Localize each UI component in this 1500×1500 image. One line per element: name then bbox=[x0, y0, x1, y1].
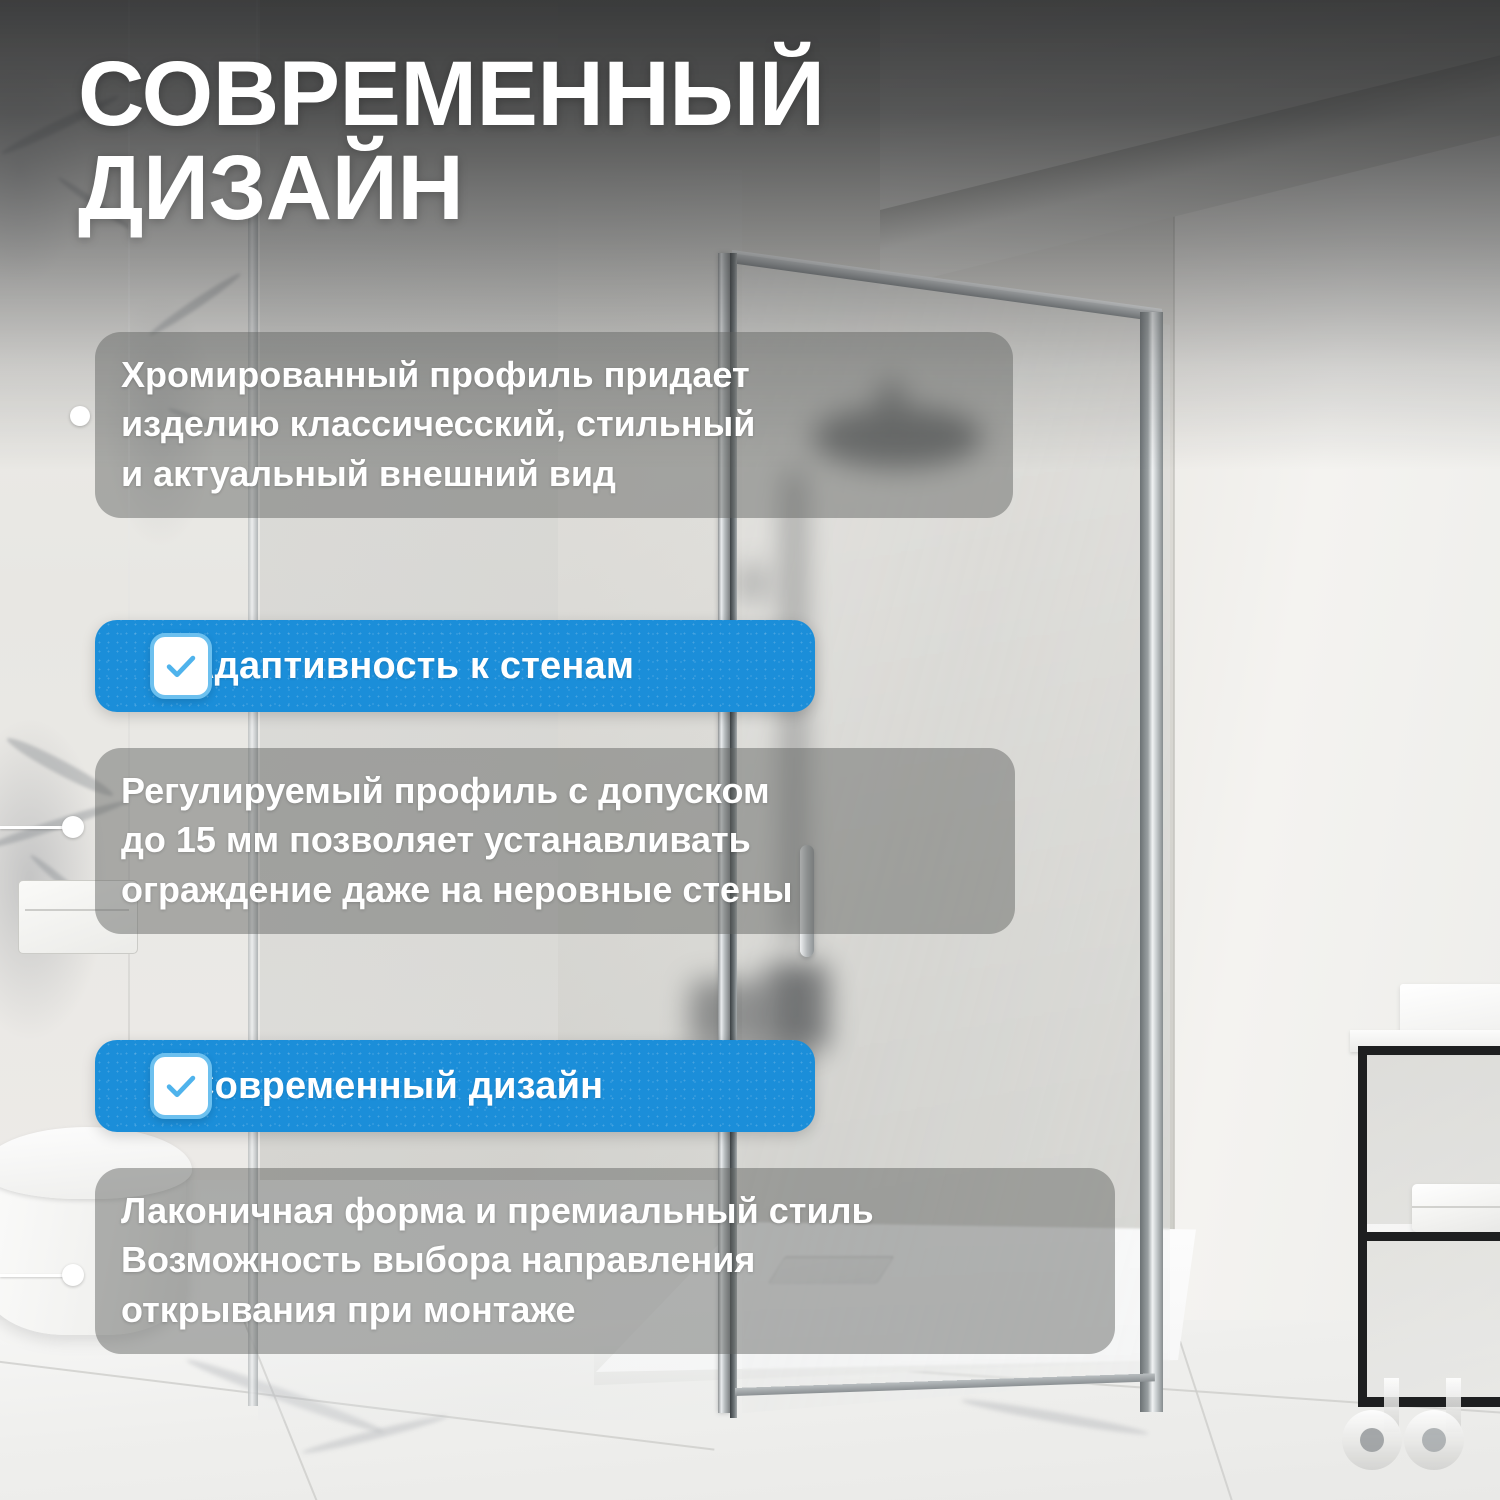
shelf-mid-bar bbox=[1358, 1232, 1500, 1241]
shelf-box bbox=[1400, 984, 1500, 1034]
poster-canvas: СОВРЕМЕННЫЙ ДИЗАЙН Хромированный профиль… bbox=[0, 0, 1500, 1500]
feature-panel-modern-form: Лаконичная форма и премиальный стиль Воз… bbox=[95, 1168, 1115, 1354]
page-title: СОВРЕМЕННЫЙ ДИЗАЙН bbox=[78, 48, 978, 236]
check-icon bbox=[150, 1053, 212, 1119]
shower-corner-seal bbox=[1140, 312, 1148, 1412]
leader-line-feature-2 bbox=[0, 816, 94, 838]
folded-towels bbox=[1412, 1184, 1500, 1232]
feature-pill-label: Современный дизайн bbox=[187, 1065, 603, 1108]
feature-pill-label: Адаптивность к стенам bbox=[187, 645, 634, 688]
shower-frame-right-post bbox=[1148, 312, 1163, 1412]
leader-line-feature-3 bbox=[0, 1264, 94, 1286]
brand-watermark-dd-logo bbox=[1340, 1378, 1480, 1478]
check-icon bbox=[150, 633, 212, 699]
feature-pill-modern-design[interactable]: Современный дизайн bbox=[95, 1040, 815, 1132]
feature-panel-chrome-profile: Хромированный профиль придает изделию кл… bbox=[95, 332, 1013, 518]
feature-pill-wall-adaptivity[interactable]: Адаптивность к стенам bbox=[95, 620, 815, 712]
bullet-dot-feature-1 bbox=[70, 406, 90, 426]
feature-panel-adjustable-profile: Регулируемый профиль с допуском до 15 мм… bbox=[95, 748, 1015, 934]
